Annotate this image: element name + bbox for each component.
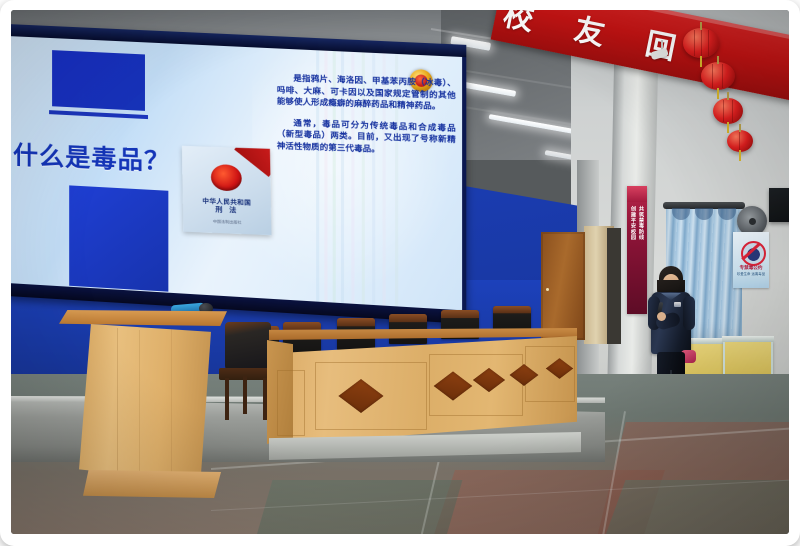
fan-hub [749, 218, 756, 225]
speaking-podium [67, 310, 219, 500]
national-emblem-icon [211, 164, 242, 191]
lantern-rib [694, 30, 695, 55]
criminal-law-book-image: 中华人民共和国 刑 法 中国法制出版社 [182, 146, 272, 235]
wall-mounted-monitor [769, 188, 789, 222]
curtain-scallop [672, 208, 690, 220]
curtain-scallop [718, 208, 736, 220]
person-shoulder-right [683, 296, 695, 330]
slide-paragraph-2: 通常，毒品可分为传统毒品和合成毒品（新型毒品）两类。目前，又出现了号称新精神活性… [277, 117, 456, 159]
lantern-rib [739, 132, 740, 150]
desk-top [722, 336, 774, 342]
anti-drug-poster: 专禁毒公约 珍爱生命 远离毒品 [733, 232, 769, 288]
slide-body-text: 是指鸦片、海洛因、甲基苯丙胺（冰毒）、吗啡、大麻、可卡因以及国家规定管制的其他能… [277, 72, 456, 167]
poster-subtext: 珍爱生命 远离毒品 [733, 272, 769, 276]
podium-body [79, 324, 211, 482]
rostrum-panel-inset [277, 370, 305, 436]
red-lantern [683, 28, 719, 58]
lantern-rib [722, 64, 723, 88]
book-title-line2: 刑 法 [183, 203, 271, 216]
chair-leg [263, 378, 267, 420]
projection-screen: 什么是毒品？ 中华人民共和国 刑 法 中国法制出版社 是指鸦片、海洛因、甲基苯丙… [11, 24, 466, 324]
lantern-rib [701, 30, 702, 55]
slide-decoration-box-2 [69, 185, 168, 291]
red-lantern [727, 130, 753, 152]
red-lantern [701, 62, 735, 90]
podium-top-surface [59, 310, 227, 326]
presentation-slide: 什么是毒品？ 中华人民共和国 刑 法 中国法制出版社 是指鸦片、海洛因、甲基苯丙… [11, 36, 462, 310]
wooden-door[interactable] [541, 232, 585, 340]
lantern-rib [723, 100, 724, 122]
vertical-banner-column-1: 创建平安校园 [630, 206, 636, 240]
book-publisher: 中国法制出版社 [183, 218, 271, 227]
chair-leg [225, 378, 229, 420]
vertical-red-banner: 创建平安校园 共筑禁毒防线 [627, 186, 647, 314]
doorway-shadow [607, 228, 621, 344]
lantern-rib [712, 64, 713, 88]
chair-back [225, 322, 271, 370]
chair-rail [441, 310, 479, 318]
chair-leg [243, 376, 247, 414]
slide-paragraph-1: 是指鸦片、海洛因、甲基苯丙胺（冰毒）、吗啡、大麻、可卡因以及国家规定管制的其他能… [277, 72, 456, 113]
wood-grain [171, 328, 172, 478]
red-lantern [713, 98, 743, 124]
chair-rail [493, 306, 531, 313]
lantern-rib [732, 100, 733, 122]
wood-grain [117, 328, 118, 478]
vertical-banner-header [627, 186, 647, 202]
rostrum-table [269, 328, 577, 456]
chair-rail [337, 318, 375, 326]
person-hand [657, 312, 666, 321]
prohibition-sign-icon [741, 241, 766, 266]
slide-decoration-line [49, 110, 148, 119]
podium-base [83, 470, 221, 498]
vertical-banner-column-2: 共筑禁毒防线 [638, 206, 644, 240]
rostrum-tabletop [269, 328, 577, 340]
photograph: 什么是毒品？ 中华人民共和国 刑 法 中国法制出版社 是指鸦片、海洛因、甲基苯丙… [11, 10, 789, 534]
chair-rail [389, 314, 427, 322]
poster-headline: 专禁毒公约 [733, 265, 769, 271]
slide-decoration-box [52, 50, 145, 111]
curtain-scallop [695, 208, 713, 220]
wood-grain [139, 330, 140, 476]
door-knob-icon[interactable] [546, 288, 549, 291]
lantern-rib [708, 30, 709, 55]
side-chair[interactable] [219, 322, 273, 418]
person-uniform-badge [674, 302, 681, 307]
photo-frame: 什么是毒品？ 中华人民共和国 刑 法 中国法制出版社 是指鸦片、海洛因、甲基苯丙… [0, 0, 800, 546]
